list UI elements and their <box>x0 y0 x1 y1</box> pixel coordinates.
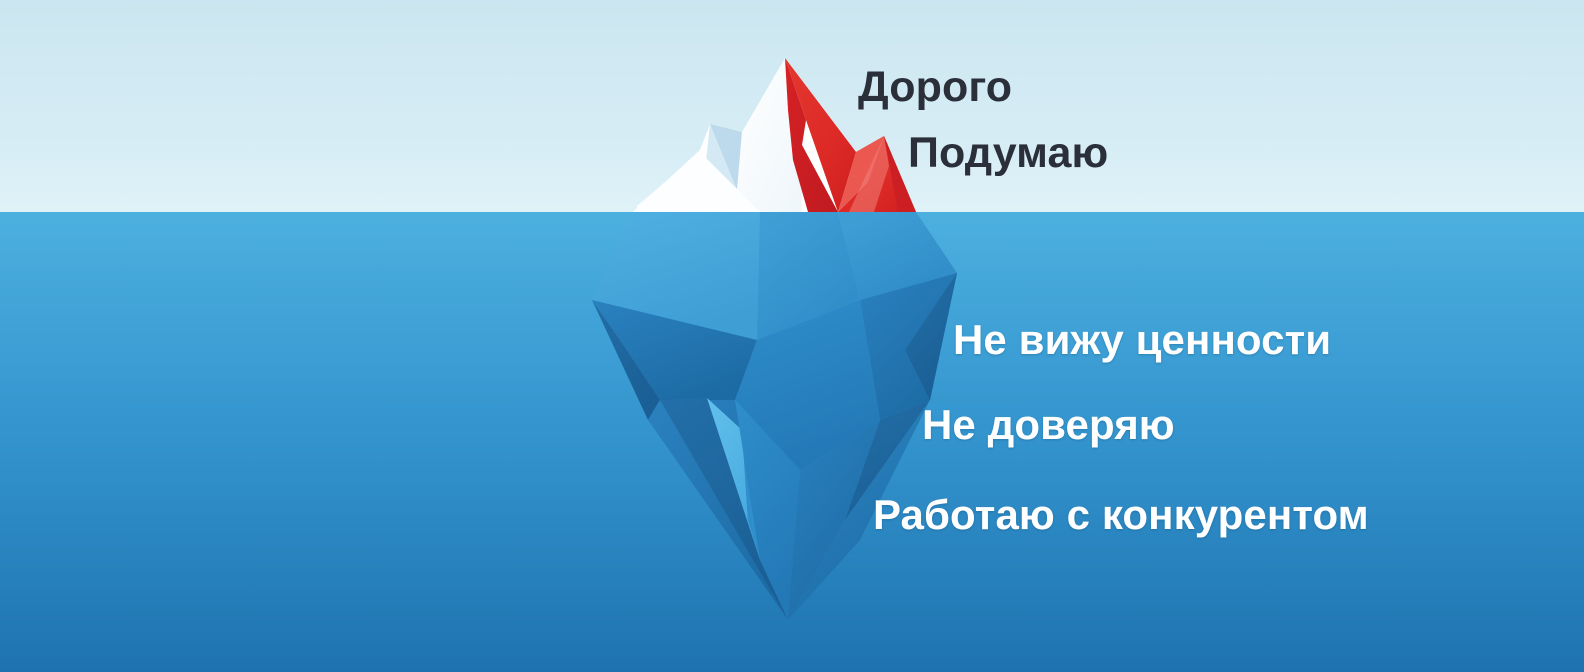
label-podumayu: Подумаю <box>908 132 1108 175</box>
label-ne-vizhu-cennosti: Не вижу ценности <box>953 319 1331 361</box>
illustration-canvas: Дорого Подумаю Не вижу ценности Не довер… <box>0 0 1584 672</box>
label-dorogo: Дорого <box>858 66 1012 109</box>
label-rabotayu-s-konkurentom: Работаю с конкурентом <box>873 494 1369 536</box>
iceberg-scene <box>0 0 1584 672</box>
label-ne-doveryayu: Не доверяю <box>922 404 1175 446</box>
